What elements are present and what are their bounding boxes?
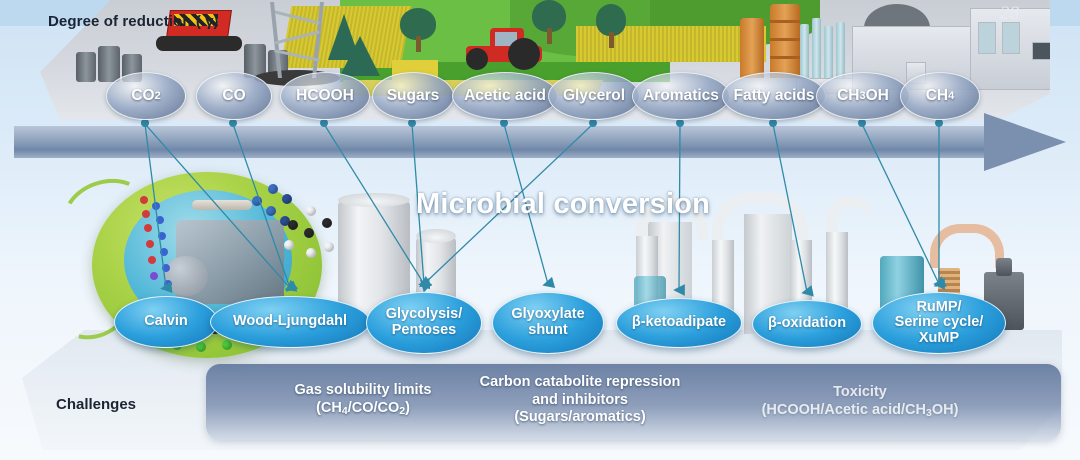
storage-dome-icon <box>864 4 930 28</box>
arrow-head-icon <box>984 113 1066 171</box>
microbial-conversion-title: Microbial conversion <box>416 188 710 221</box>
building-number-label: 28 <box>1000 3 1019 25</box>
smokestack-icon <box>812 18 821 80</box>
pathway-bubble-glyoxylate[interactable]: Glyoxylate shunt <box>492 292 604 354</box>
challenge-line-1: Gas solubility limits <box>295 382 432 398</box>
challenge-line-1: Carbon catabolite repression <box>480 374 681 390</box>
challenge-line-2: and inhibitors <box>532 392 628 408</box>
cell-pipe-icon <box>192 200 252 210</box>
window-panel <box>1002 22 1020 54</box>
pathway-bubble-ketoadip[interactable]: β-ketoadipate <box>616 298 742 348</box>
substrate-bubble-fattyacids[interactable]: Fatty acids <box>722 72 826 120</box>
substrate-bubble-co2[interactable]: CO2 <box>106 72 186 120</box>
arrow-shaft <box>14 126 986 158</box>
smokestack-icon <box>824 26 833 80</box>
oil-drum-icon <box>76 52 96 82</box>
figure-root: 28 Degree of reduction ( γ) <box>0 0 1080 460</box>
substrate-bubble-hcooh[interactable]: HCOOH <box>280 72 370 120</box>
tractor-icon <box>464 28 550 70</box>
window-panel <box>978 22 996 54</box>
challenges-label: Challenges <box>56 396 136 413</box>
pathway-bubble-rump[interactable]: RuMP/Serine cycle/XuMP <box>872 292 1006 354</box>
dna-helix-icon <box>138 194 178 290</box>
challenge-line-2: (HCOOH/Acetic acid/CH3OH) <box>762 402 959 418</box>
challenge-line-1: Toxicity <box>833 384 887 400</box>
pathway-bubble-glycolysis[interactable]: Glycolysis/Pentoses <box>366 292 482 354</box>
molecule-model-icon <box>284 206 340 258</box>
vent-opening <box>1032 42 1060 60</box>
substrate-bubble-sugars[interactable]: Sugars <box>372 72 454 120</box>
degree-of-reduction-label: Degree of reduction ( γ) <box>48 13 219 30</box>
degree-of-reduction-arrow <box>14 120 1066 164</box>
substrate-bubble-acetic[interactable]: Acetic acid <box>452 72 558 120</box>
copper-pipe-icon <box>930 224 1004 268</box>
pump-outlet-icon <box>996 258 1012 276</box>
pathway-bubble-calvin[interactable]: Calvin <box>114 296 218 348</box>
challenge-line-2: (CH4/CO/CO2) <box>316 400 410 416</box>
tree-icon <box>596 8 626 48</box>
pathway-bubble-wl[interactable]: Wood-Ljungdahl <box>210 296 370 348</box>
challenge-item-toxicity: Toxicity(HCOOH/Acetic acid/CH3OH) <box>710 384 1010 419</box>
pipe-bend-icon <box>712 192 808 244</box>
tree-icon <box>400 4 436 52</box>
silo-icon <box>770 4 800 78</box>
substrate-bubble-ch4[interactable]: CH4 <box>900 72 980 120</box>
substrate-bubble-ch3oh[interactable]: CH3OH <box>816 72 910 120</box>
pipe-outlet-icon <box>826 196 872 236</box>
substrate-bubble-glycerol[interactable]: Glycerol <box>548 72 640 120</box>
substrate-bubble-co[interactable]: CO <box>196 72 272 120</box>
challenge-item-catabol: Carbon catabolite repressionand inhibito… <box>430 374 730 427</box>
smokestack-icon <box>836 22 845 80</box>
oil-drum-icon <box>98 46 120 82</box>
substrate-bubble-aromatics[interactable]: Aromatics <box>632 72 730 120</box>
silo-icon <box>740 18 764 78</box>
drilling-derrick-icon <box>268 0 326 78</box>
challenge-line-3: (Sugars/aromatics) <box>514 409 645 425</box>
pathway-bubble-boxid[interactable]: β-oxidation <box>752 300 862 348</box>
conifer-tree-icon <box>340 36 380 76</box>
smokestack-icon <box>800 24 809 80</box>
